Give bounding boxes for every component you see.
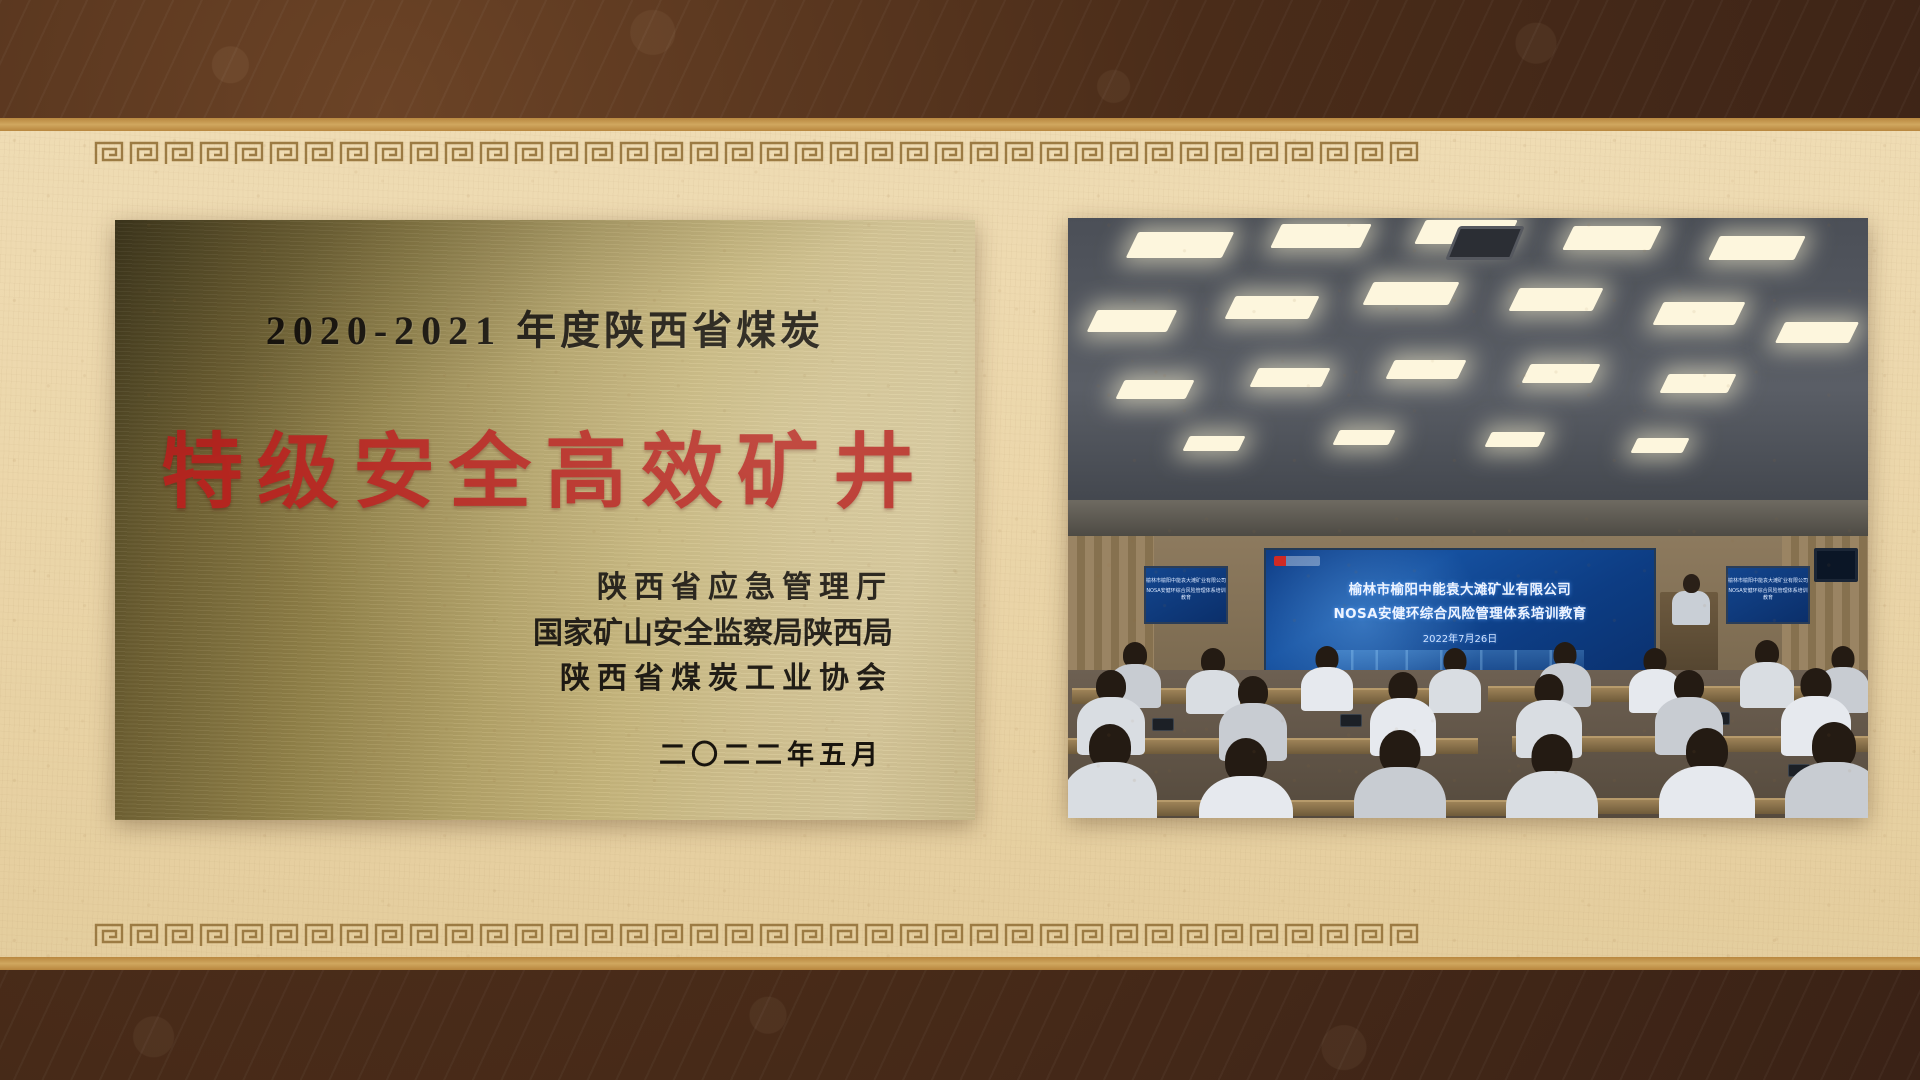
side-display-right-line2: NOSA安健环综合风险管理体系培训教育 [1728, 587, 1808, 601]
greek-key-unit [232, 138, 267, 168]
ceiling-light [1708, 236, 1806, 260]
greek-key-unit [197, 920, 232, 950]
ceiling-light [1775, 322, 1859, 343]
greek-key-unit [1142, 138, 1177, 168]
greek-key-unit [162, 138, 197, 168]
greek-key-unit [1317, 920, 1352, 950]
screen-program-title: NOSA安健环综合风险管理体系培训教育 [1266, 602, 1654, 622]
greek-key-unit [1387, 920, 1422, 950]
greek-key-unit [267, 920, 302, 950]
greek-key-unit [1072, 920, 1107, 950]
greek-key-unit [1002, 920, 1037, 950]
side-display-left-line2: NOSA安健环综合风险管理体系培训教育 [1146, 587, 1226, 601]
ceiling-light [1562, 226, 1662, 250]
greek-key-unit [442, 920, 477, 950]
side-display-right-line1: 榆林市榆阳中能袁大滩矿业有限公司 [1728, 577, 1808, 584]
greek-key-unit [1177, 920, 1212, 950]
ceiling-light [1224, 296, 1319, 319]
greek-key-unit [582, 920, 617, 950]
greek-key-unit [932, 920, 967, 950]
plaque-header-text: 年度陕西省煤炭 [516, 308, 824, 353]
attendee [1068, 724, 1158, 818]
greek-key-unit [582, 138, 617, 168]
greek-key-unit [1317, 138, 1352, 168]
ceiling-light [1087, 310, 1178, 332]
greek-key-unit [337, 920, 372, 950]
gold-rule-bottom [0, 957, 1920, 970]
attendee-body [1659, 766, 1755, 818]
greek-key-unit [862, 920, 897, 950]
greek-key-unit [1037, 920, 1072, 950]
greek-key-unit [722, 138, 757, 168]
greek-key-unit [302, 138, 337, 168]
greek-key-unit [477, 138, 512, 168]
greek-key-unit [92, 920, 127, 950]
attendee [1658, 728, 1756, 818]
greek-key-unit [1282, 920, 1317, 950]
ceiling-light [1521, 364, 1600, 383]
greek-key-unit [477, 920, 512, 950]
greek-key-unit [1037, 138, 1072, 168]
attendee [1300, 646, 1354, 708]
ceiling-light [1508, 288, 1603, 311]
screen-date: 2022年7月26日 [1266, 630, 1654, 645]
greek-key-unit [792, 138, 827, 168]
greek-key-unit [1072, 138, 1107, 168]
greek-key-unit [127, 138, 162, 168]
content-panel: 2020-2021 年度陕西省煤炭 特级安全高效矿井 陕西省应急管理厅 国家矿山… [0, 118, 1920, 970]
ceiling-light [1249, 368, 1330, 387]
greek-key-border-bottom [92, 920, 1828, 950]
greek-key-unit [1282, 138, 1317, 168]
wall-monitor [1814, 548, 1858, 582]
greek-key-unit [1002, 138, 1037, 168]
greek-key-unit [127, 920, 162, 950]
ceiling-soffit [1068, 500, 1868, 540]
ceiling-light [1630, 438, 1689, 453]
greek-key-unit [757, 920, 792, 950]
greek-key-unit [1177, 138, 1212, 168]
ceiling [1068, 218, 1868, 528]
greek-key-unit [722, 920, 757, 950]
greek-key-unit [512, 920, 547, 950]
greek-key-unit [372, 138, 407, 168]
greek-key-unit [162, 920, 197, 950]
greek-key-unit [617, 138, 652, 168]
greek-key-unit [1352, 920, 1387, 950]
screen-logo-icon [1274, 556, 1320, 566]
greek-key-unit [1142, 920, 1177, 950]
plaque-issuer-1: 陕西省应急管理厅 [533, 565, 893, 611]
award-plaque-image: 2020-2021 年度陕西省煤炭 特级安全高效矿井 陕西省应急管理厅 国家矿山… [115, 220, 975, 820]
plaque-issuer-3: 陕西省煤炭工业协会 [533, 656, 893, 702]
gold-rule-top [0, 118, 1920, 131]
plaque-header-years: 2020-2021 [266, 308, 502, 353]
ceiling-light [1270, 224, 1372, 248]
greek-key-unit [442, 138, 477, 168]
greek-key-unit [967, 920, 1002, 950]
greek-key-unit [792, 920, 827, 950]
attendee-body [1506, 771, 1598, 818]
greek-key-unit [757, 138, 792, 168]
ceiling-light [1362, 282, 1459, 305]
conference-photo: 榆林市榆阳中能袁大滩矿业有限公司 NOSA安健环综合风险管理体系培训教育 榆林市… [1068, 218, 1868, 818]
greek-key-unit [652, 138, 687, 168]
greek-key-unit [547, 920, 582, 950]
greek-key-unit [617, 920, 652, 950]
greek-key-unit [92, 138, 127, 168]
presenter-head [1683, 574, 1700, 593]
greek-key-border-top [92, 138, 1828, 168]
presentation-slide: 2020-2021 年度陕西省煤炭 特级安全高效矿井 陕西省应急管理厅 国家矿山… [0, 0, 1920, 1080]
ceiling-light [1385, 360, 1466, 379]
plaque-header-line: 2020-2021 年度陕西省煤炭 [115, 298, 975, 356]
greek-key-unit [827, 920, 862, 950]
attendee-body [1199, 776, 1293, 818]
greek-key-unit [1212, 920, 1247, 950]
greek-key-unit [407, 138, 442, 168]
greek-key-unit [1107, 138, 1142, 168]
greek-key-unit [197, 138, 232, 168]
greek-key-unit [827, 138, 862, 168]
greek-key-unit [267, 138, 302, 168]
side-display-right: 榆林市榆阳中能袁大滩矿业有限公司 NOSA安健环综合风险管理体系培训教育 [1726, 566, 1810, 624]
attendee-body [1354, 767, 1446, 818]
attendee [1784, 722, 1868, 818]
attendee [1352, 730, 1448, 818]
plaque-title: 特级安全高效矿井 [115, 405, 975, 524]
side-display-left-line1: 榆林市榆阳中能袁大滩矿业有限公司 [1146, 577, 1226, 584]
greek-key-unit [337, 138, 372, 168]
greek-key-unit [687, 920, 722, 950]
greek-key-unit [547, 138, 582, 168]
greek-key-unit [687, 138, 722, 168]
greek-key-unit [932, 138, 967, 168]
attendee [1504, 734, 1600, 818]
ceiling-light [1484, 432, 1545, 447]
ceiling-light [1652, 302, 1745, 325]
plaque-issuer-2: 国家矿山安全监察局陕西局 [533, 611, 893, 657]
screen-company-name: 榆林市榆阳中能袁大滩矿业有限公司 [1266, 578, 1654, 598]
ceiling-light [1182, 436, 1245, 451]
greek-key-unit [967, 138, 1002, 168]
greek-key-unit [1352, 138, 1387, 168]
greek-key-unit [897, 920, 932, 950]
greek-key-unit [407, 920, 442, 950]
greek-key-unit [1107, 920, 1142, 950]
attendee [1198, 738, 1294, 818]
greek-key-unit [1387, 138, 1422, 168]
attendee-body [1068, 762, 1157, 818]
ceiling-light [1115, 380, 1194, 399]
plaque-date: 二〇二二年五月 [659, 733, 883, 772]
greek-key-unit [232, 920, 267, 950]
greek-key-unit [1212, 138, 1247, 168]
attendee-body [1785, 762, 1868, 818]
greek-key-unit [302, 920, 337, 950]
ceiling-light [1659, 374, 1736, 393]
attendee-body [1301, 667, 1353, 711]
laptop [1340, 714, 1362, 727]
greek-key-unit [862, 138, 897, 168]
greek-key-unit [372, 920, 407, 950]
greek-key-unit [1247, 920, 1282, 950]
side-display-left: 榆林市榆阳中能袁大滩矿业有限公司 NOSA安健环综合风险管理体系培训教育 [1144, 566, 1228, 624]
ceiling-light [1332, 430, 1395, 445]
plaque-issuers: 陕西省应急管理厅 国家矿山安全监察局陕西局 陕西省煤炭工业协会 [533, 565, 893, 702]
greek-key-unit [1247, 138, 1282, 168]
presenter-body [1672, 591, 1710, 625]
greek-key-unit [512, 138, 547, 168]
ceiling-vent [1445, 226, 1525, 260]
ceiling-light [1126, 232, 1235, 258]
greek-key-unit [897, 138, 932, 168]
greek-key-unit [652, 920, 687, 950]
